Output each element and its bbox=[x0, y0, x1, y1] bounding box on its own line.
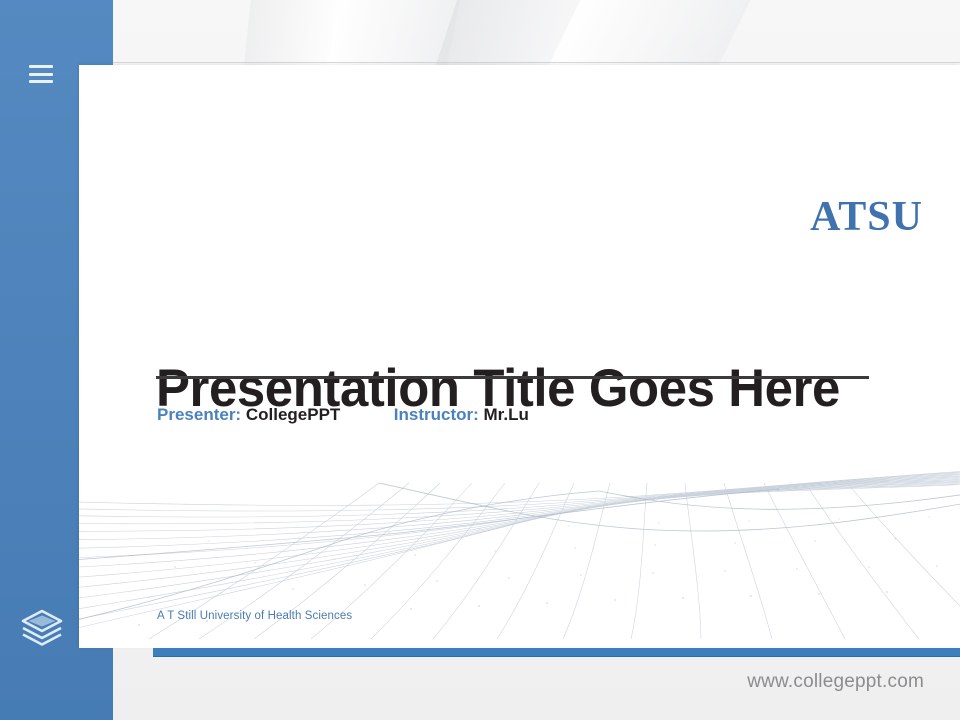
presenter-label: Presenter: bbox=[157, 405, 241, 424]
layers-icon[interactable] bbox=[18, 602, 66, 650]
slide-accent-bar bbox=[153, 648, 960, 657]
instructor-value: Mr.Lu bbox=[484, 405, 529, 424]
atsu-logo: ATSU bbox=[810, 196, 923, 238]
hamburger-line-1 bbox=[29, 65, 53, 68]
backdrop-divider bbox=[113, 62, 960, 63]
hamburger-line-2 bbox=[29, 73, 53, 76]
university-credit: A T Still University of Health Sciences bbox=[157, 610, 352, 622]
byline: Presenter: CollegePPT Instructor: Mr.Lu bbox=[157, 405, 529, 425]
hamburger-line-3 bbox=[29, 80, 53, 83]
slide-preview-window: ATSU Presentation Title Goes Here Presen… bbox=[0, 0, 960, 720]
hamburger-icon[interactable] bbox=[29, 63, 53, 85]
footer-website-url: www.collegeppt.com bbox=[747, 671, 924, 693]
instructor-label: Instructor: bbox=[394, 405, 479, 424]
presenter-value: CollegePPT bbox=[246, 405, 340, 424]
title-underline bbox=[156, 376, 869, 379]
slide-canvas: ATSU Presentation Title Goes Here Presen… bbox=[79, 65, 960, 648]
